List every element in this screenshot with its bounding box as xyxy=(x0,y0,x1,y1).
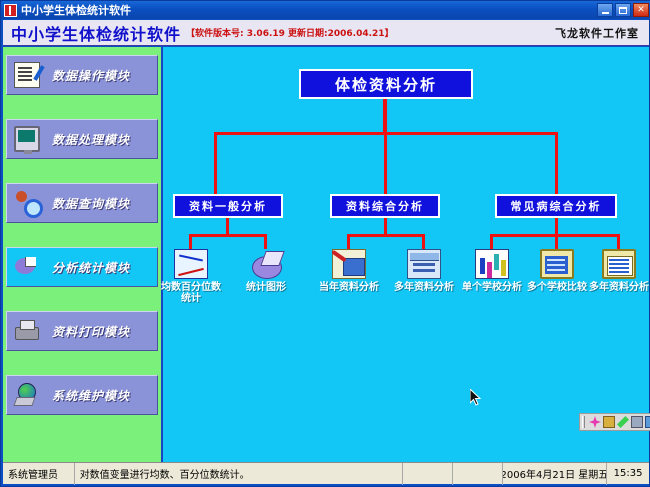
sidebar-item-label: 数据处理模块 xyxy=(52,131,130,148)
header-studio: 飞龙软件工作室 xyxy=(555,25,639,41)
leaf-current-year-analysis[interactable]: 当年资料分析 xyxy=(318,249,380,293)
sidebar-item-system-maintenance[interactable]: 系统维护模块 xyxy=(6,375,158,415)
connector-b3-stem xyxy=(555,218,558,234)
leaf-mean-percentile-statistics[interactable]: 均数百分位数统计 xyxy=(160,249,222,304)
window-icon[interactable] xyxy=(645,416,650,428)
toolbar-drag-handle[interactable] xyxy=(582,416,585,428)
connector-b2-leaf2 xyxy=(422,234,425,249)
app-body: 数据操作模块 数据处理模块 数据查询模块 分析统计模块 资料打印模块 系统维护模… xyxy=(3,47,649,462)
sidebar-item-analysis-statistics[interactable]: 分析统计模块 xyxy=(6,247,158,287)
title-bar: 中小学生体检统计软件 ✕ xyxy=(1,1,650,19)
connector-root-vertical xyxy=(383,99,387,132)
connector-b3-leaf1 xyxy=(490,234,493,249)
header-title: 中小学生体检统计软件 xyxy=(11,21,181,45)
mouse-cursor xyxy=(470,389,482,407)
connector-b1-leaf1 xyxy=(189,234,192,249)
status-bar: 系统管理员 对数值变量进行均数、百分位数统计。 2006年4月21日 星期五 1… xyxy=(3,462,649,484)
globe-tools-icon xyxy=(14,382,40,408)
app-icon xyxy=(4,4,17,17)
connector-b3-leaf3 xyxy=(617,234,620,249)
node-branch-common-disease-analysis[interactable]: 常见病综合分析 xyxy=(495,194,617,218)
status-pad-2 xyxy=(453,463,503,485)
screen-icon[interactable] xyxy=(631,416,643,428)
connector-b2-stem xyxy=(384,218,387,234)
close-button[interactable]: ✕ xyxy=(633,3,649,17)
leaf-multi-year-analysis-b3[interactable]: 多年资料分析 xyxy=(588,249,650,293)
book-edit-icon xyxy=(407,249,441,279)
connector-b2-leaf1 xyxy=(347,234,350,249)
node-root[interactable]: 体检资料分析 xyxy=(299,69,473,99)
leaf-label: 当年资料分析 xyxy=(319,282,379,293)
status-pad-1 xyxy=(403,463,453,485)
pie-chart-icon xyxy=(249,249,283,279)
notepad-pen-icon xyxy=(14,62,40,88)
connector-b1-stem xyxy=(226,218,229,234)
person-search-icon xyxy=(14,190,40,216)
node-branch-general-analysis[interactable]: 资料一般分析 xyxy=(173,194,283,218)
connector-b1-leaf2 xyxy=(264,234,267,249)
connector-branch2-vertical xyxy=(384,132,387,194)
clipboard-list-icon xyxy=(602,249,636,279)
app-header: 中小学生体检统计软件 【软件版本号: 3.06.19 更新日期:2006.04.… xyxy=(3,20,649,46)
leaf-label: 统计图形 xyxy=(246,282,286,293)
leaf-label: 多年资料分析 xyxy=(589,282,649,293)
sidebar-item-label: 分析统计模块 xyxy=(52,259,130,276)
sidebar-item-data-query[interactable]: 数据查询模块 xyxy=(6,183,158,223)
leaf-multi-year-analysis-b2[interactable]: 多年资料分析 xyxy=(393,249,455,293)
sidebar-item-label: 系统维护模块 xyxy=(52,387,130,404)
window-controls: ✕ xyxy=(597,3,649,17)
monitor-icon xyxy=(14,126,40,152)
connector-b2-bus xyxy=(347,234,425,237)
sidebar: 数据操作模块 数据处理模块 数据查询模块 分析统计模块 资料打印模块 系统维护模… xyxy=(3,47,163,462)
sidebar-item-data-processing[interactable]: 数据处理模块 xyxy=(6,119,158,159)
application-window: 中小学生体检统计软件 ✕ 中小学生体检统计软件 【软件版本号: 3.06.19 … xyxy=(0,0,650,487)
bar-chart-icon xyxy=(475,249,509,279)
line-chart-icon xyxy=(174,249,208,279)
sidebar-item-data-print[interactable]: 资料打印模块 xyxy=(6,311,158,351)
leaf-label: 均数百分位数统计 xyxy=(160,282,222,304)
clipboard-blue-icon xyxy=(540,249,574,279)
pie-chart-icon xyxy=(14,254,40,280)
status-message: 对数值变量进行均数、百分位数统计。 xyxy=(75,463,403,485)
leaf-label: 单个学校分析 xyxy=(462,282,522,293)
window-title: 中小学生体检统计软件 xyxy=(21,2,131,18)
sparkle-icon[interactable] xyxy=(589,416,601,428)
connector-b3-leaf2 xyxy=(555,234,558,249)
status-time: 15:35 xyxy=(607,463,649,485)
leaf-multi-school-comparison[interactable]: 多个学校比较 xyxy=(526,249,588,293)
node-branch-comprehensive-analysis[interactable]: 资料综合分析 xyxy=(330,194,440,218)
sidebar-item-label: 数据查询模块 xyxy=(52,195,130,212)
form-pen-icon xyxy=(332,249,366,279)
connector-b1-bus xyxy=(189,234,267,237)
status-date: 2006年4月21日 星期五 xyxy=(503,463,608,485)
minimize-button[interactable] xyxy=(597,3,613,17)
leaf-label: 多年资料分析 xyxy=(394,282,454,293)
sidebar-item-label: 数据操作模块 xyxy=(52,67,130,84)
connector-branch1-vertical xyxy=(214,132,217,194)
leaf-label: 多个学校比较 xyxy=(527,282,587,293)
floating-toolbar[interactable] xyxy=(579,413,650,431)
status-user: 系统管理员 xyxy=(3,463,75,485)
leaf-single-school-analysis[interactable]: 单个学校分析 xyxy=(461,249,523,293)
palette-icon[interactable] xyxy=(603,416,615,428)
leaf-statistical-charts[interactable]: 统计图形 xyxy=(235,249,297,293)
header-version: 【软件版本号: 3.06.19 更新日期:2006.04.21】 xyxy=(186,26,394,39)
diagram-canvas: 体检资料分析 资料一般分析 资料综合分析 常见病综合分析 xyxy=(165,47,649,462)
connector-branch3-vertical xyxy=(555,132,558,194)
printer-icon xyxy=(14,318,40,344)
sidebar-item-data-operation[interactable]: 数据操作模块 xyxy=(6,55,158,95)
brush-icon[interactable] xyxy=(617,416,629,428)
sidebar-item-label: 资料打印模块 xyxy=(52,323,130,340)
maximize-button[interactable] xyxy=(615,3,631,17)
